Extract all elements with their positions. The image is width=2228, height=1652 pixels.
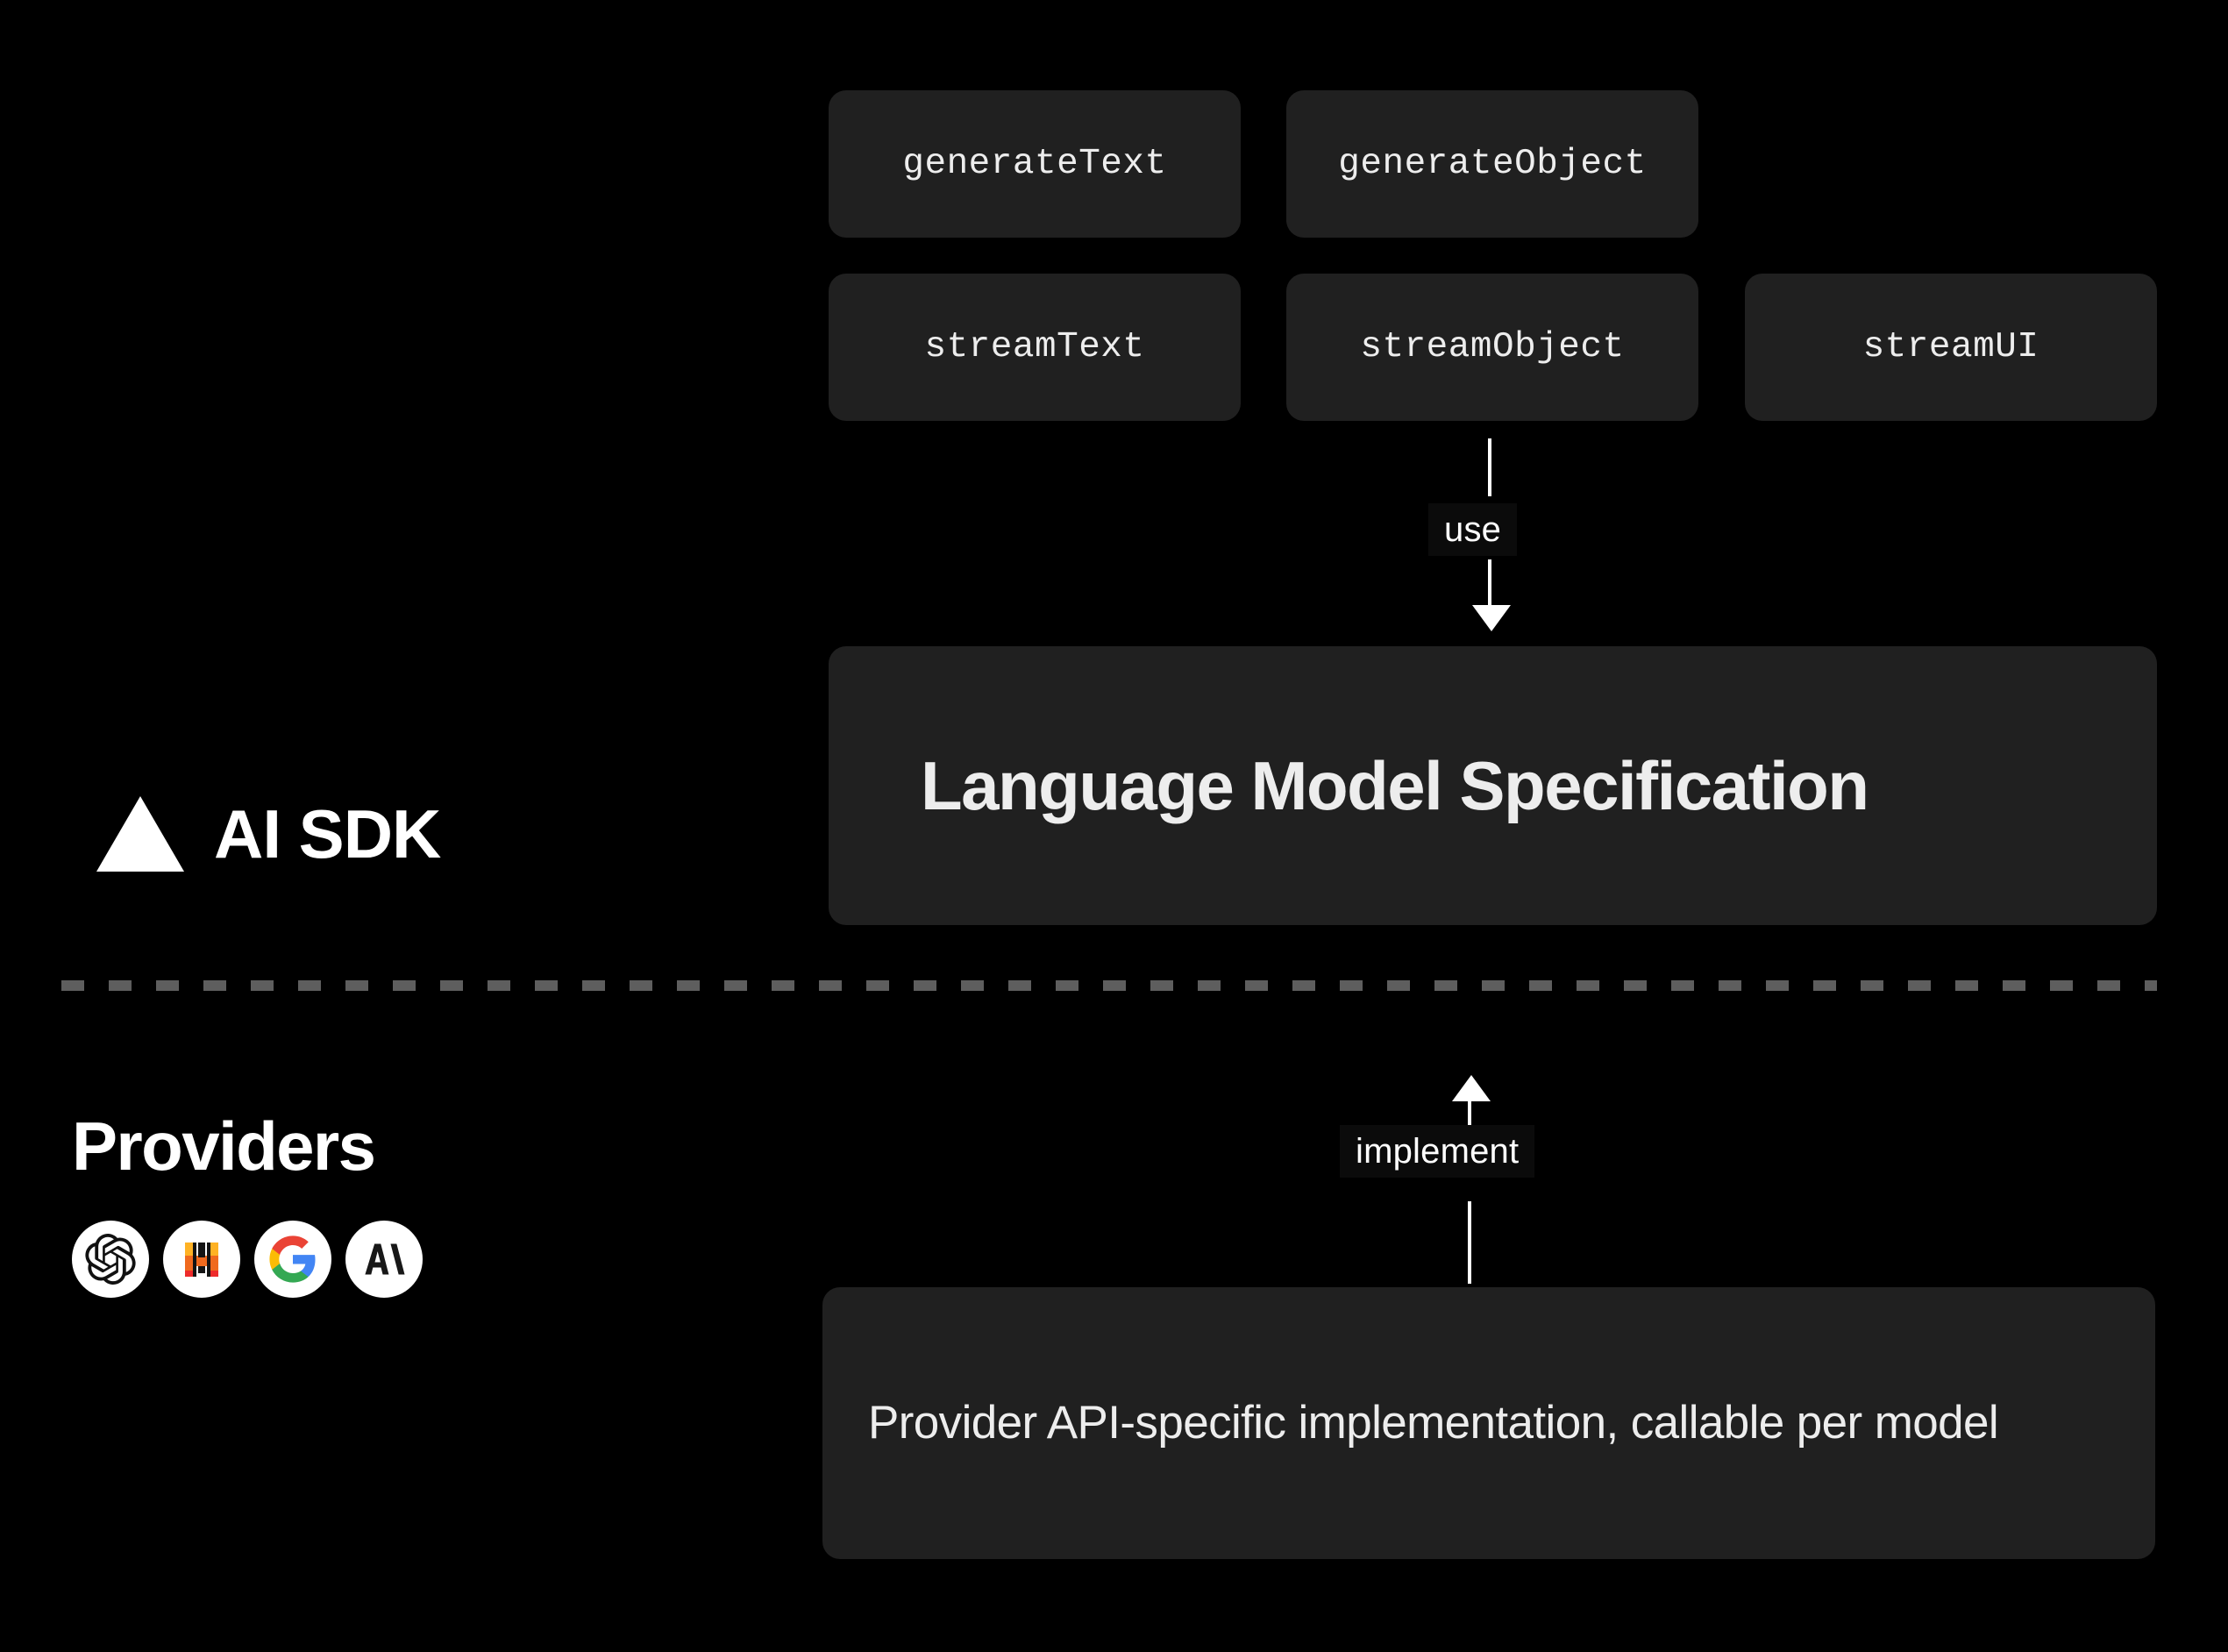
implement-arrow-head-up-icon [1452, 1075, 1491, 1101]
use-arrow-label: use [1428, 503, 1517, 556]
implement-arrow-label: implement [1340, 1125, 1534, 1178]
providers-title: Providers [72, 1112, 423, 1180]
ai-sdk-brand-label: AI SDK [214, 800, 440, 868]
google-icon[interactable] [254, 1221, 331, 1298]
function-card-stream-object[interactable]: streamObject [1286, 274, 1698, 421]
function-card-generate-text[interactable]: generateText [829, 90, 1241, 238]
providers-section: Providers [72, 1112, 423, 1298]
ai-sdk-brand: AI SDK [96, 796, 440, 872]
function-card-stream-ui[interactable]: streamUI [1745, 274, 2157, 421]
language-model-specification-title: Language Model Specification [921, 746, 1868, 826]
language-model-specification-box[interactable]: Language Model Specification [829, 646, 2157, 925]
anthropic-icon[interactable] [345, 1221, 423, 1298]
provider-implementation-text: Provider API-specific implementation, ca… [868, 1393, 1998, 1453]
function-card-generate-object[interactable]: generateObject [1286, 90, 1698, 238]
sdk-provider-divider [61, 980, 2157, 991]
function-card-label: generateObject [1338, 144, 1646, 184]
function-card-label: streamObject [1360, 327, 1624, 367]
openai-icon[interactable] [72, 1221, 149, 1298]
use-arrow-line-upper [1488, 438, 1491, 496]
function-card-label: streamUI [1863, 327, 2039, 367]
function-card-label: streamText [924, 327, 1144, 367]
function-card-label: generateText [902, 144, 1166, 184]
use-arrow-head-down-icon [1472, 605, 1511, 631]
provider-implementation-box[interactable]: Provider API-specific implementation, ca… [822, 1287, 2155, 1559]
use-arrow-line-lower [1488, 559, 1491, 610]
huggingface-icon[interactable] [163, 1221, 240, 1298]
function-card-stream-text[interactable]: streamText [829, 274, 1241, 421]
implement-arrow-line-lower [1468, 1201, 1471, 1284]
provider-icons-row [72, 1221, 423, 1298]
vercel-triangle-icon [96, 796, 184, 872]
